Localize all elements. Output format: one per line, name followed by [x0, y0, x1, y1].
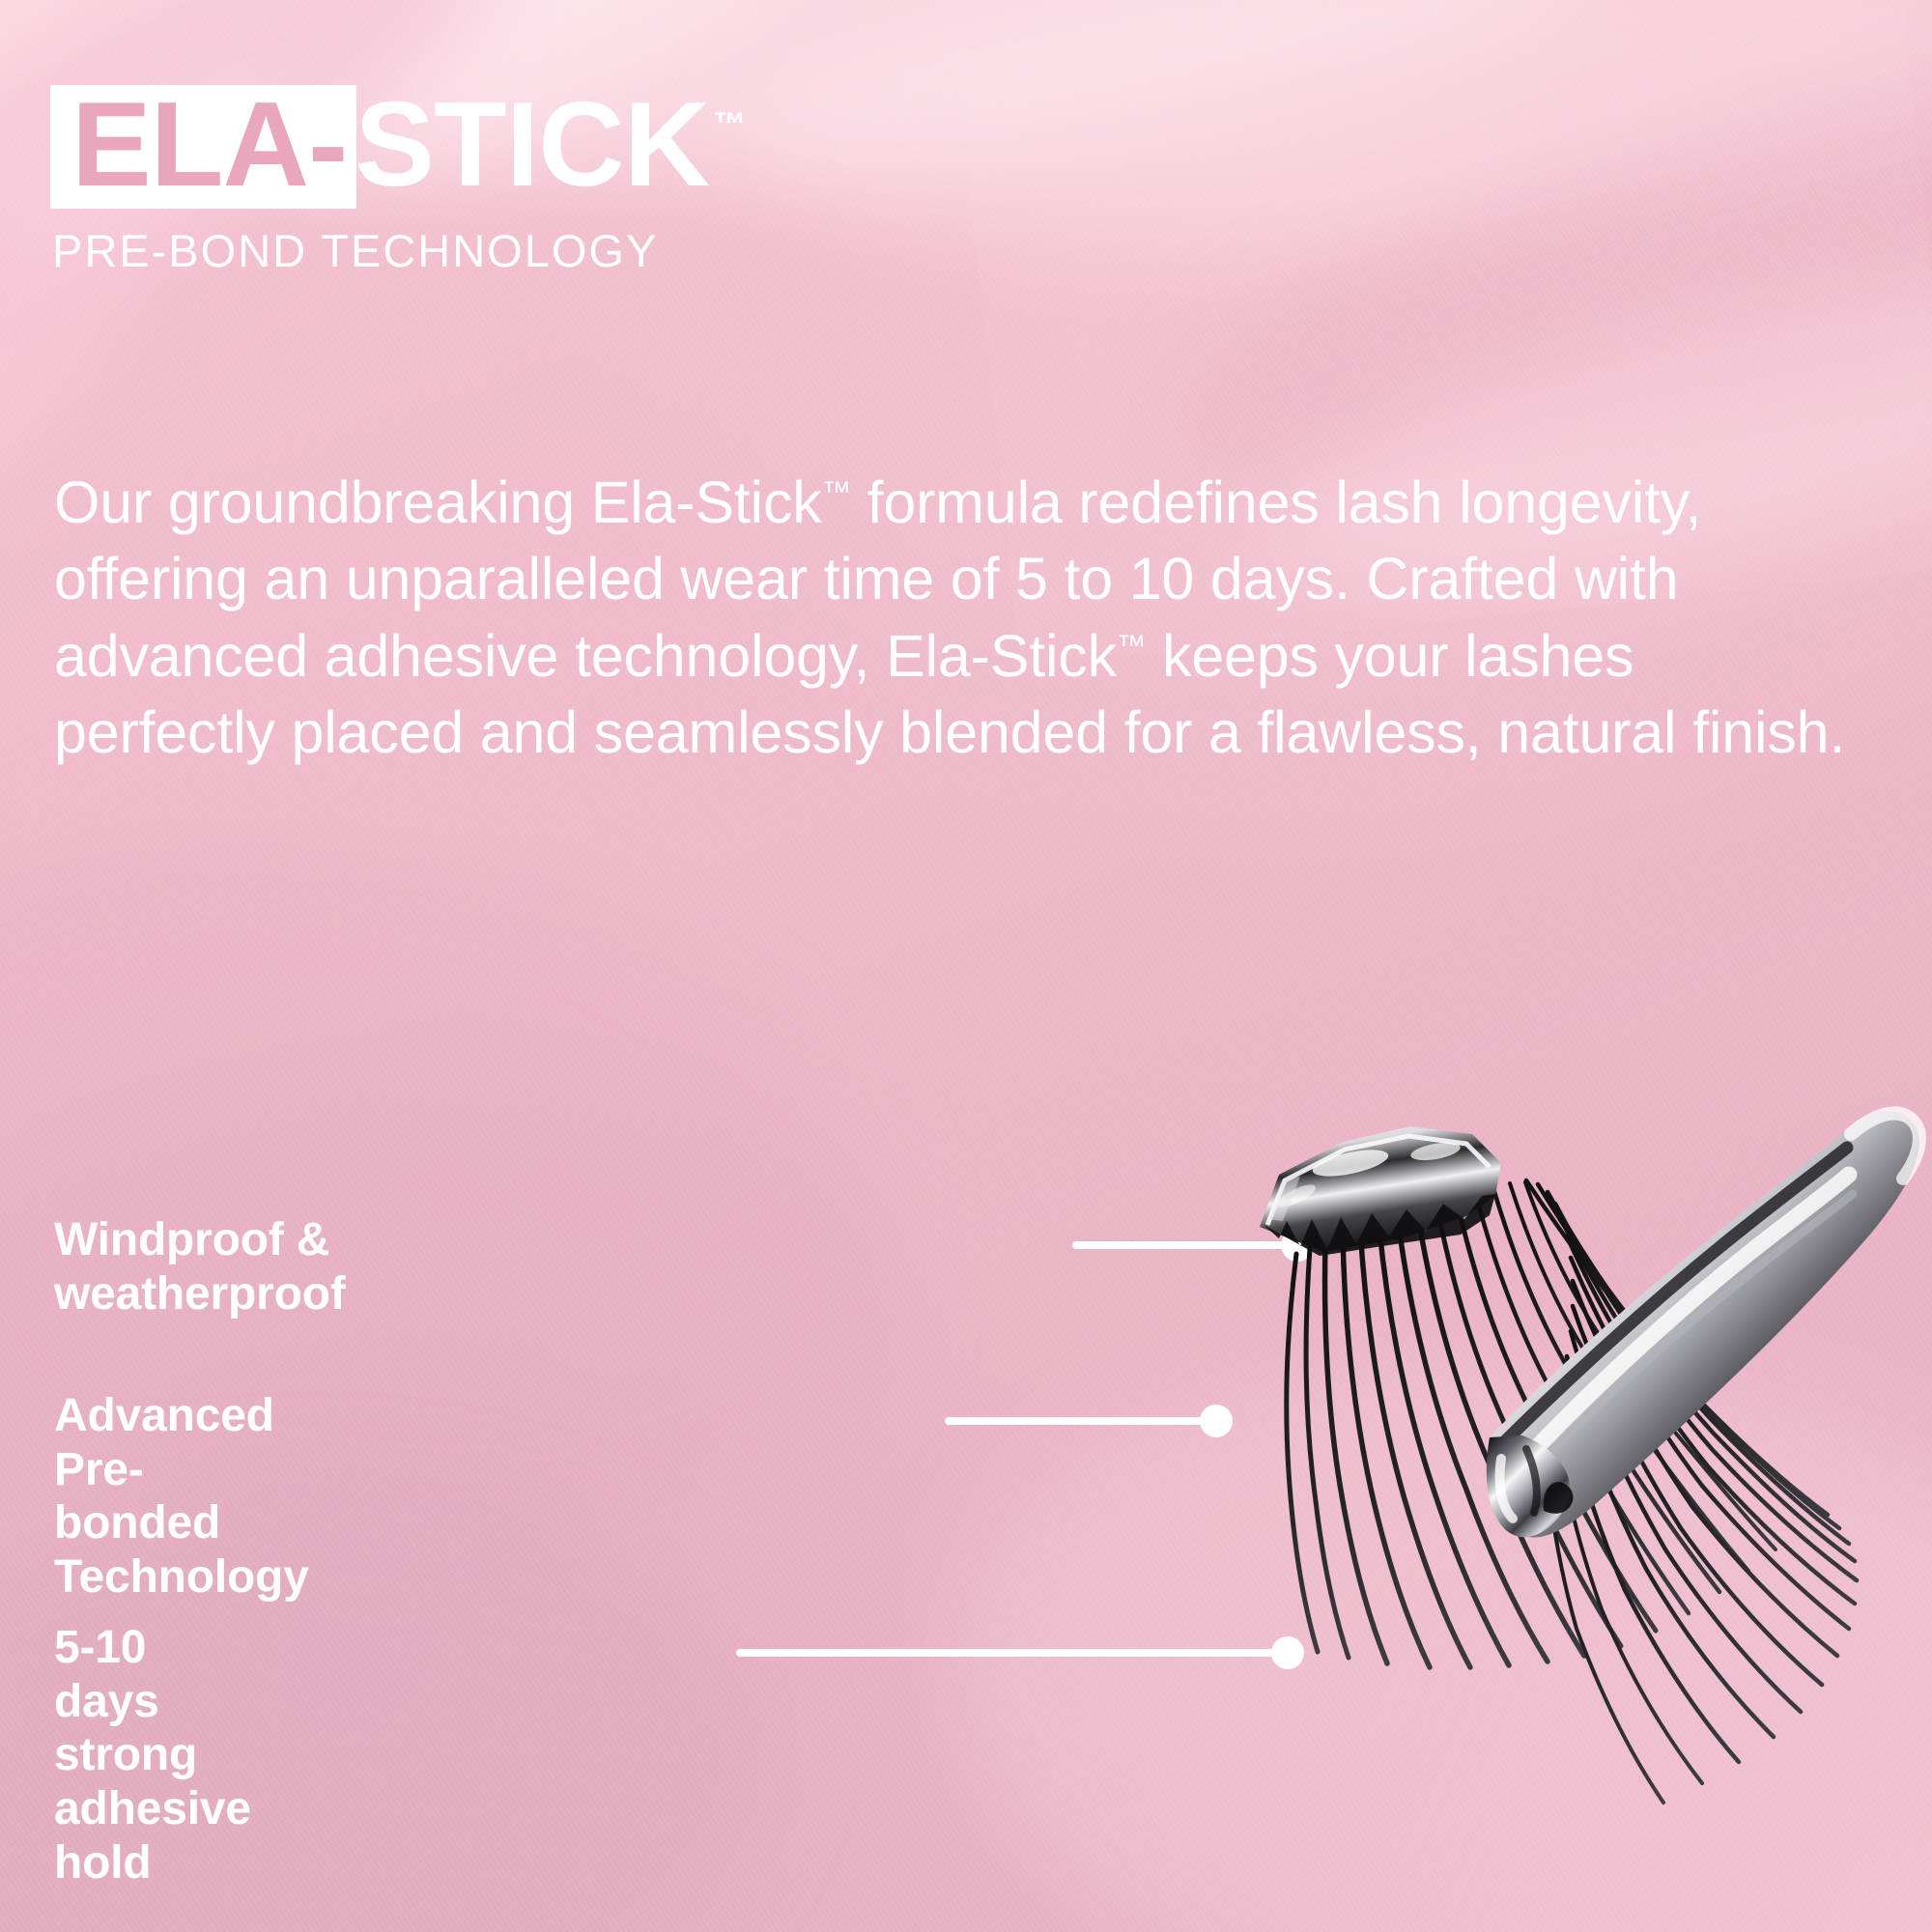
feature-label: 5-10 days strong adhesive hold	[54, 1621, 251, 1889]
connector-dot	[1200, 1405, 1233, 1437]
connector-line	[736, 1649, 1287, 1657]
connector-dot	[1281, 1229, 1314, 1262]
promo-graphic: ELA- STICK ™ PRE-BOND TECHNOLOGY Our gro…	[0, 0, 1932, 1932]
feature-connector	[945, 1405, 1235, 1437]
connector-line	[1072, 1241, 1294, 1249]
feature-connector	[1072, 1229, 1314, 1262]
feature-label: Advanced Pre-bonded Technology	[54, 1389, 309, 1605]
feature-connector	[736, 1636, 1308, 1669]
connector-line	[945, 1417, 1213, 1425]
connector-dot	[1271, 1636, 1304, 1669]
feature-label: Windproof & weatherproof	[54, 1213, 346, 1321]
feature-callout-list: Windproof & weatherproof Advanced Pre-bo…	[0, 0, 1932, 1932]
